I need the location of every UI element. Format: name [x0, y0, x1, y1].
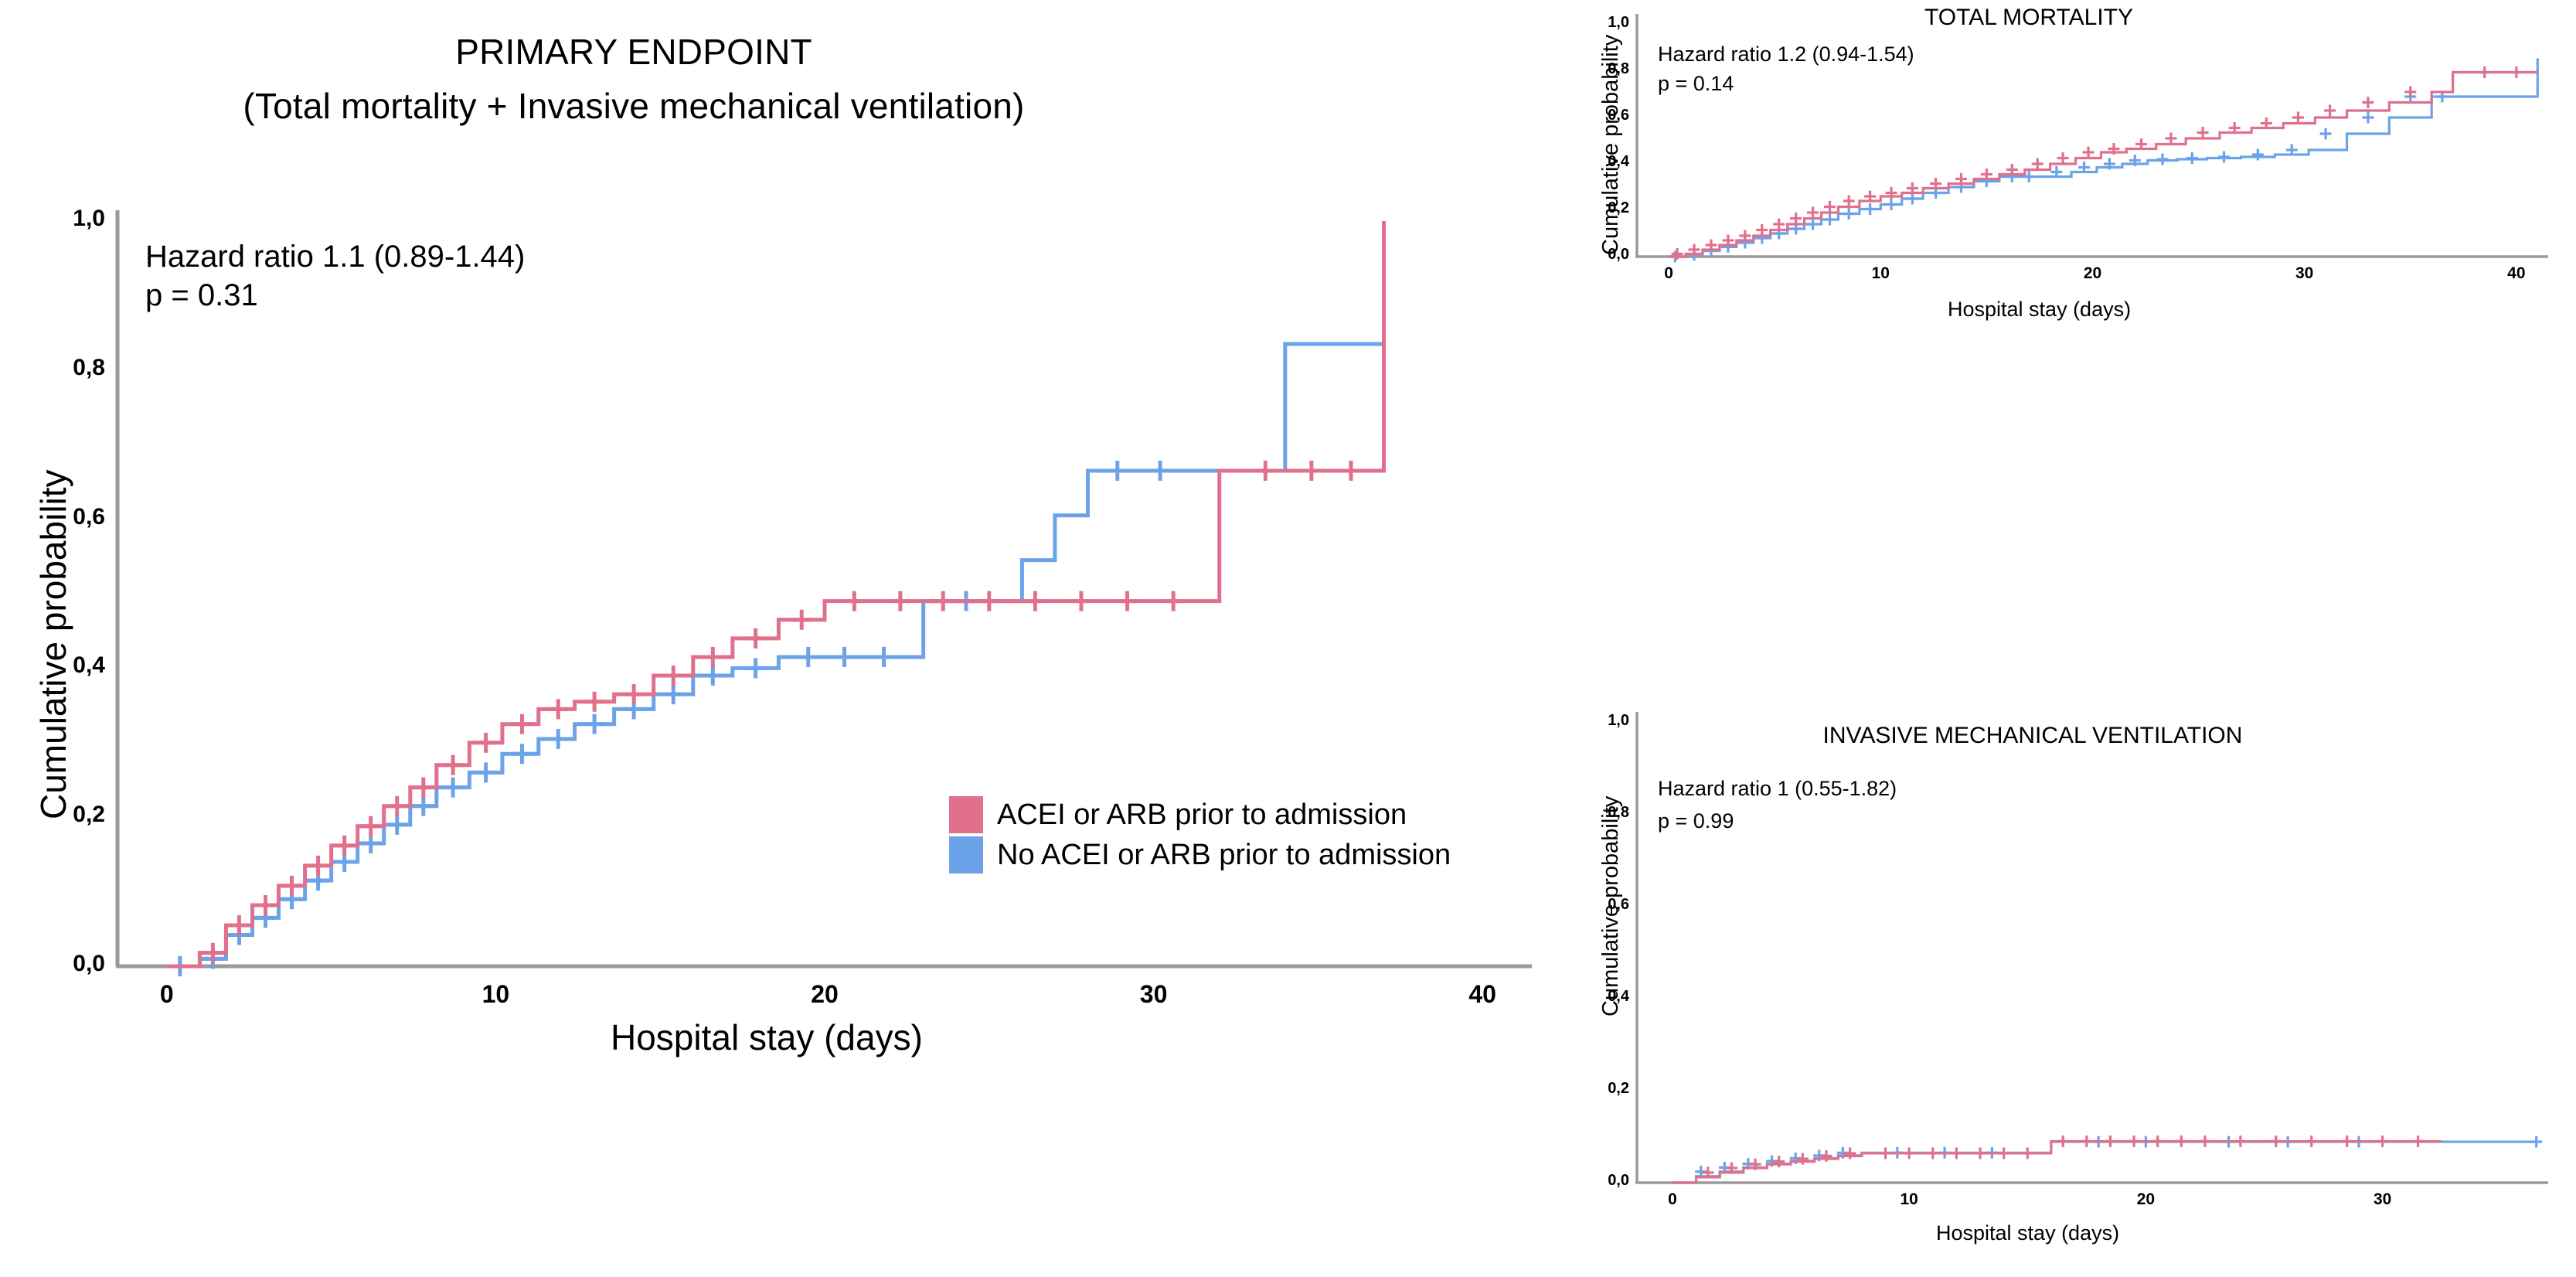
imv-plot-svg: [1577, 696, 2576, 1277]
legend-item-untreated: No ACEI or ARB prior to admission: [949, 835, 1451, 875]
legend-item-treated: ACEI or ARB prior to admission: [949, 795, 1451, 835]
legend: ACEI or ARB prior to admission No ACEI o…: [949, 795, 1451, 875]
legend-label-untreated: No ACEI or ARB prior to admission: [997, 839, 1451, 872]
mortality-plot-svg: [1577, 0, 2576, 618]
total-mortality-panel: TOTAL MORTALITY Hazard ratio 1.2 (0.94-1…: [1577, 0, 2576, 618]
legend-label-treated: ACEI or ARB prior to admission: [997, 799, 1407, 832]
invasive-mechanical-ventilation-panel: INVASIVE MECHANICAL VENTILATION Hazard r…: [1577, 696, 2576, 1277]
primary-endpoint-panel: PRIMARY ENDPOINT (Total mortality + Inva…: [0, 0, 1569, 1082]
legend-swatch-untreated: [949, 836, 983, 873]
legend-swatch-treated: [949, 796, 983, 833]
primary-plot-svg: [0, 0, 1569, 1082]
